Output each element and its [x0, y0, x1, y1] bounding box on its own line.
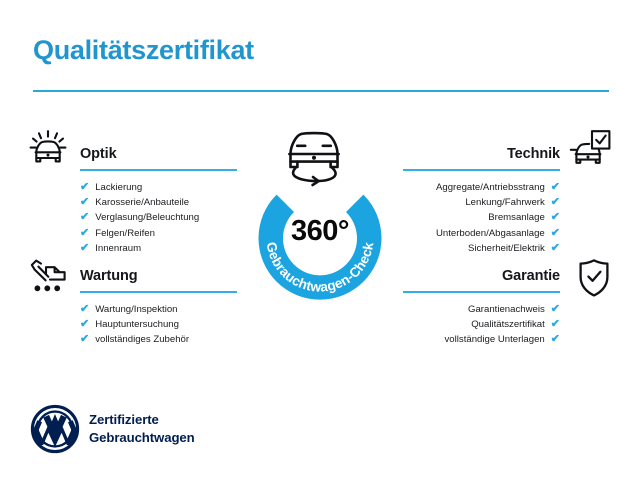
vw-logo — [30, 404, 80, 454]
list-item-label: Felgen/Reifen — [95, 226, 155, 241]
list-item: Qualitätszertifikat✔ — [403, 317, 560, 332]
section-wartung-header: Wartung — [80, 267, 237, 293]
footer-line-1: Zertifizierte — [89, 411, 195, 429]
footer-line-2: Gebrauchtwagen — [89, 429, 195, 447]
list-item-label: Lenkung/Fahrwerk — [465, 195, 544, 210]
list-item: Unterboden/Abgasanlage✔ — [403, 226, 560, 241]
section-technik: Technik Aggregate/Antriebsstrang✔ Lenkun… — [403, 145, 560, 256]
list-item: ✔Lackierung — [80, 180, 237, 195]
list-item-label: Sicherheit/Elektrik — [468, 241, 545, 256]
shield-check-icon — [572, 257, 616, 299]
section-optik-list: ✔Lackierung ✔Karosserie/Anbauteile ✔Verg… — [80, 180, 237, 256]
footer-text: Zertifizierte Gebrauchtwagen — [89, 411, 195, 446]
check-icon: ✔ — [80, 197, 89, 208]
section-wartung-title: Wartung — [80, 267, 237, 285]
check-icon: ✔ — [551, 243, 560, 254]
list-item-label: Unterboden/Abgasanlage — [436, 226, 545, 241]
section-garantie-underline — [403, 291, 560, 293]
section-garantie: Garantie Garantienachweis✔ Qualitätszert… — [403, 267, 560, 348]
check-icon: ✔ — [551, 212, 560, 223]
section-technik-header: Technik — [403, 145, 560, 171]
list-item: Bremsanlage✔ — [403, 210, 560, 225]
section-technik-underline — [403, 169, 560, 171]
list-item: ✔Innenraum — [80, 241, 237, 256]
list-item: ✔vollständiges Zubehör — [80, 332, 237, 347]
list-item-label: Wartung/Inspektion — [95, 302, 177, 317]
check-icon: ✔ — [551, 319, 560, 330]
check-icon: ✔ — [80, 334, 89, 345]
check-icon: ✔ — [80, 228, 89, 239]
check-icon: ✔ — [80, 182, 89, 193]
section-technik-list: Aggregate/Antriebsstrang✔ Lenkung/Fahrwe… — [403, 180, 560, 256]
check-icon: ✔ — [551, 197, 560, 208]
list-item: Sicherheit/Elektrik✔ — [403, 241, 560, 256]
certificate-page: Qualitätszertifikat Optik — [0, 0, 640, 480]
list-item-label: vollständiges Zubehör — [95, 332, 189, 347]
section-garantie-title: Garantie — [403, 267, 560, 285]
list-item: ✔Karosserie/Anbauteile — [80, 195, 237, 210]
list-item-label: Verglasung/Beleuchtung — [95, 210, 199, 225]
list-item-label: Innenraum — [95, 241, 141, 256]
list-item-label: Bremsanlage — [488, 210, 545, 225]
badge-center-label: 360° — [245, 215, 395, 248]
check-icon: ✔ — [551, 334, 560, 345]
list-item: Aggregate/Antriebsstrang✔ — [403, 180, 560, 195]
section-wartung: Wartung ✔Wartung/Inspektion ✔Hauptunters… — [80, 267, 237, 348]
check-icon: ✔ — [80, 243, 89, 254]
car-wrench-service-icon — [26, 255, 70, 297]
section-optik-header: Optik — [80, 145, 237, 171]
car-front-checkbox-icon — [568, 128, 612, 170]
check-icon: ✔ — [80, 212, 89, 223]
car-front-rotate-icon — [277, 126, 351, 188]
section-wartung-underline — [80, 291, 237, 293]
check-icon: ✔ — [80, 319, 89, 330]
section-wartung-list: ✔Wartung/Inspektion ✔Hauptuntersuchung ✔… — [80, 302, 237, 348]
list-item-label: Garantienachweis — [468, 302, 545, 317]
list-item: ✔Wartung/Inspektion — [80, 302, 237, 317]
list-item-label: Hauptuntersuchung — [95, 317, 179, 332]
list-item: vollständige Unterlagen✔ — [403, 332, 560, 347]
list-item: ✔Verglasung/Beleuchtung — [80, 210, 237, 225]
title-divider — [33, 90, 609, 92]
list-item: ✔Felgen/Reifen — [80, 226, 237, 241]
car-front-shine-icon — [26, 128, 70, 170]
check-icon: ✔ — [551, 228, 560, 239]
section-technik-title: Technik — [403, 145, 560, 163]
section-optik-title: Optik — [80, 145, 237, 163]
section-optik: Optik ✔Lackierung ✔Karosserie/Anbauteile… — [80, 145, 237, 256]
list-item-label: Aggregate/Antriebsstrang — [436, 180, 545, 195]
page-title: Qualitätszertifikat — [33, 33, 254, 67]
section-optik-underline — [80, 169, 237, 171]
list-item: Garantienachweis✔ — [403, 302, 560, 317]
list-item-label: Qualitätszertifikat — [471, 317, 545, 332]
list-item-label: vollständige Unterlagen — [445, 332, 545, 347]
section-garantie-header: Garantie — [403, 267, 560, 293]
check-icon: ✔ — [551, 304, 560, 315]
section-garantie-list: Garantienachweis✔ Qualitätszertifikat✔ v… — [403, 302, 560, 348]
check-icon: ✔ — [80, 304, 89, 315]
list-item-label: Lackierung — [95, 180, 142, 195]
list-item: ✔Hauptuntersuchung — [80, 317, 237, 332]
list-item-label: Karosserie/Anbauteile — [95, 195, 189, 210]
check-icon: ✔ — [551, 182, 560, 193]
list-item: Lenkung/Fahrwerk✔ — [403, 195, 560, 210]
